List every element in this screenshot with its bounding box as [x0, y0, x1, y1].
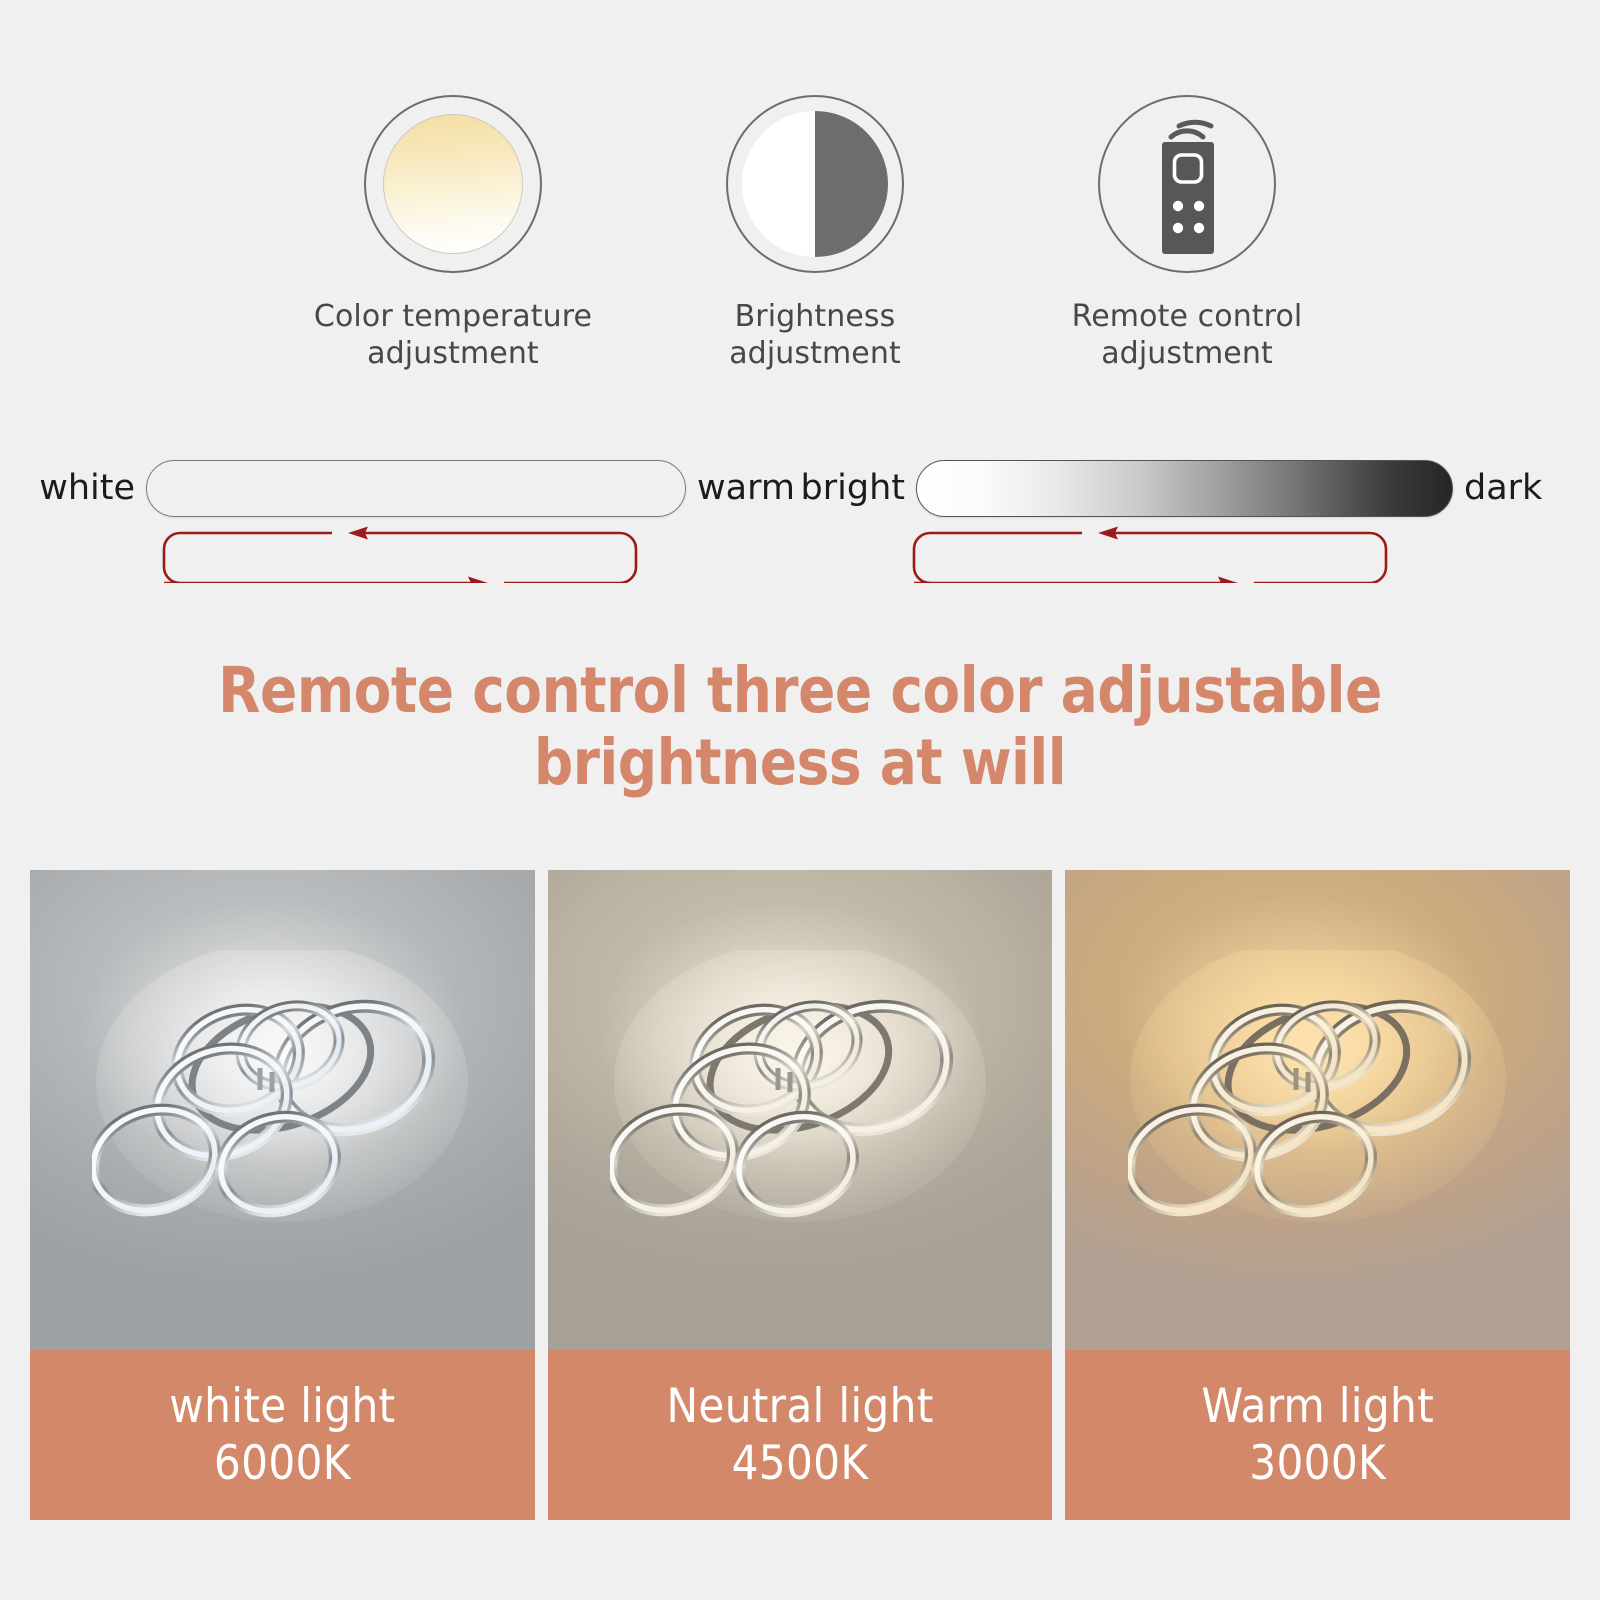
caption-name: Warm light [1201, 1378, 1434, 1435]
cycle-arrows-svg [902, 521, 1398, 583]
panel-white-light[interactable]: white light 6000K [30, 870, 535, 1520]
brightness-half-disc [742, 111, 888, 257]
color-temperature-gradient-bar[interactable] [146, 460, 686, 517]
slider-label-bright: bright [790, 468, 905, 508]
color-temperature-cycle-arrows-icon [152, 521, 800, 583]
photo-neutral-light [548, 870, 1053, 1350]
caption-kelvin: 3000K [1249, 1435, 1386, 1492]
feature-remote-control: Remote control adjustment [997, 95, 1377, 372]
feature-brightness: Brightness adjustment [625, 95, 1005, 372]
slider-label-white: white [0, 468, 135, 508]
photo-warm-light [1065, 870, 1570, 1350]
slider-label-warm: warm [697, 468, 795, 508]
caption-name: white light [169, 1378, 395, 1435]
remote-control-icon [1098, 95, 1276, 273]
panel-warm-light[interactable]: Warm light 3000K [1065, 870, 1570, 1520]
caption-white-light: white light 6000K [30, 1350, 535, 1520]
feature-label-brightness: Brightness adjustment [729, 299, 901, 372]
feature-label-remote-control: Remote control adjustment [1072, 299, 1303, 372]
caption-kelvin: 6000K [214, 1435, 351, 1492]
feature-icon-row: Color temperature adjustment Brightness … [0, 95, 1600, 405]
color-temperature-icon [364, 95, 542, 273]
ceiling-lamp-figure [610, 950, 990, 1250]
brightness-half-icon [726, 95, 904, 273]
ceiling-lamp-figure [92, 950, 472, 1250]
headline: Remote control three color adjustable br… [24, 655, 1576, 800]
ceiling-lamp-figure [1128, 950, 1508, 1250]
cycle-arrows-svg [152, 521, 648, 583]
brightness-cycle-arrows-icon [902, 521, 1600, 583]
brightness-slider-track-row: bright dark [790, 455, 1600, 521]
caption-neutral-light: Neutral light 4500K [548, 1350, 1053, 1520]
brightness-slider: bright dark [790, 455, 1600, 605]
headline-line-1: Remote control three color adjustable [24, 655, 1576, 727]
brightness-gradient-bar[interactable] [916, 460, 1453, 517]
lamp-svg [1128, 950, 1508, 1250]
caption-warm-light: Warm light 3000K [1065, 1350, 1570, 1520]
panel-neutral-light[interactable]: Neutral light 4500K [548, 870, 1053, 1520]
color-temperature-slider-track-row: white warm [0, 455, 800, 521]
lamp-svg [610, 950, 990, 1250]
feature-color-temperature: Color temperature adjustment [263, 95, 643, 372]
remote-glyph [1114, 109, 1260, 259]
color-temperature-swatch [383, 114, 523, 254]
light-mode-panels: white light 6000K [30, 870, 1570, 1520]
color-temperature-slider: white warm [0, 455, 800, 605]
slider-label-dark: dark [1464, 468, 1542, 508]
feature-label-color-temperature: Color temperature adjustment [314, 299, 592, 372]
caption-kelvin: 4500K [732, 1435, 869, 1492]
photo-white-light [30, 870, 535, 1350]
caption-name: Neutral light [666, 1378, 933, 1435]
remote-svg [1114, 109, 1260, 259]
lamp-svg [92, 950, 472, 1250]
headline-line-2: brightness at will [24, 727, 1576, 799]
